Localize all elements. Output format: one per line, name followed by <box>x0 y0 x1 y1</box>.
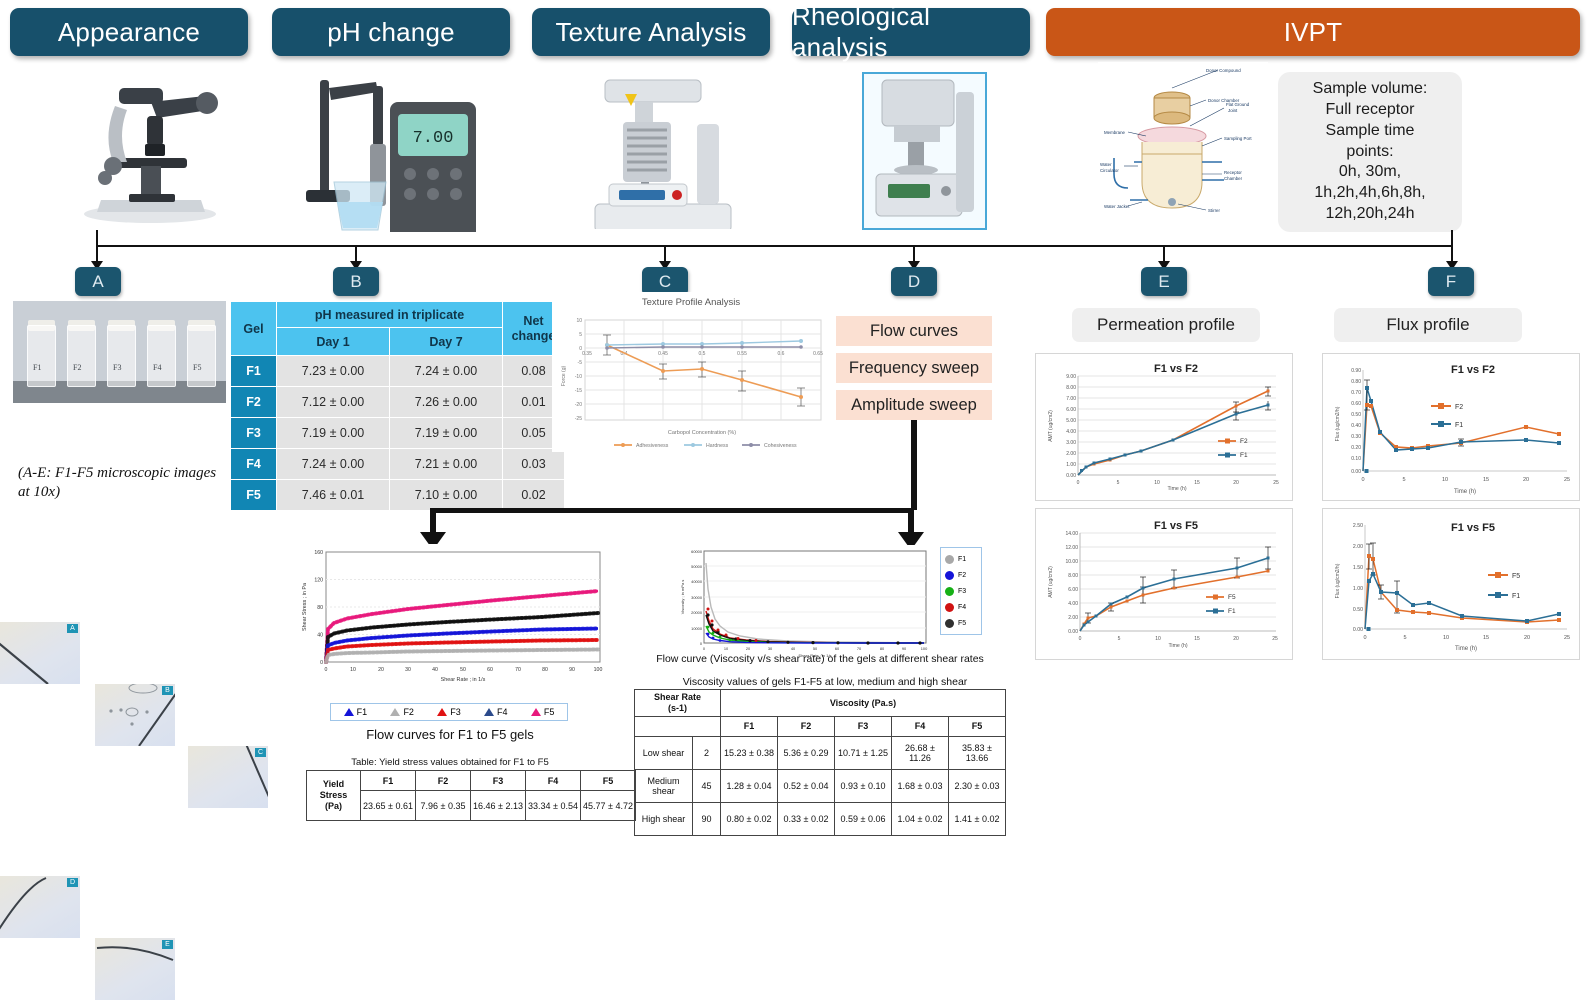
ivpt-sample-note: Sample volume: Full receptor Sample time… <box>1278 72 1462 232</box>
micro-panel-label: C <box>255 748 266 757</box>
badge-label: B <box>350 272 361 292</box>
svg-text:Water Jacket: Water Jacket <box>1104 204 1130 209</box>
viscosity-cell: 0.52 ± 0.04 <box>778 769 835 802</box>
svg-text:0.20: 0.20 <box>1351 445 1361 451</box>
triangle-icon <box>390 708 400 716</box>
svg-text:80: 80 <box>542 667 548 673</box>
svg-text:80: 80 <box>317 605 323 611</box>
svg-text:Circulator: Circulator <box>1100 168 1119 173</box>
viscosity-cell: 15.23 ± 0.38 <box>721 736 778 769</box>
svg-text:20: 20 <box>1524 635 1530 641</box>
note-line: Sample volume: <box>1313 79 1428 100</box>
viscosity-table-wrap: Shear Rate (s-1) Viscosity (Pa.s) F1 F2 … <box>634 689 1006 836</box>
table-row: Medium shear 45 1.28 ± 0.04 0.52 ± 0.04 … <box>635 769 1006 802</box>
svg-text:60000: 60000 <box>691 549 703 554</box>
svg-text:5.00: 5.00 <box>1066 418 1076 424</box>
svg-text:0.90: 0.90 <box>1351 368 1361 374</box>
rheo-branch-right <box>908 508 914 534</box>
svg-text:5: 5 <box>579 332 582 338</box>
permeation-f1-f2-card: F1 vs F2 9.008.007.006.00 5.004.003.002.… <box>1035 353 1293 501</box>
flux-f1-f5-card: F1 vs F5 2.502.001.50 1.000.500.00 0510 … <box>1322 508 1580 660</box>
svg-text:0.00: 0.00 <box>1353 627 1363 633</box>
ph-col-day1: Day 1 <box>277 328 390 356</box>
micro-panel-c: C <box>188 746 268 808</box>
table-row: F3 7.19 ± 0.00 7.19 ± 0.00 0.05 <box>231 418 565 449</box>
svg-text:Viscosity ; in mPa s: Viscosity ; in mPa s <box>680 580 685 615</box>
svg-text:0: 0 <box>1361 477 1364 483</box>
svg-text:0.50: 0.50 <box>1351 412 1361 418</box>
ph-cell-gel: F3 <box>231 418 277 449</box>
svg-text:5: 5 <box>1402 477 1405 483</box>
viscosity-cell: 0.59 ± 0.06 <box>835 802 892 835</box>
svg-text:0: 0 <box>1077 480 1080 486</box>
badge-label: D <box>908 272 920 292</box>
svg-text:-10: -10 <box>575 374 582 380</box>
badge-d: D <box>891 267 937 296</box>
svg-text:Flux (ug/cm2/h): Flux (ug/cm2/h) <box>1335 563 1341 598</box>
svg-text:1.00: 1.00 <box>1066 462 1076 468</box>
vial-label-f5: F5 <box>193 363 201 372</box>
legend-label: F5 <box>958 620 966 627</box>
svg-text:8.00: 8.00 <box>1068 573 1078 579</box>
flow-curves-chart: 16012080400 0102030 40506070 8090100 She… <box>292 544 607 694</box>
pill-label: Flux profile <box>1386 315 1469 335</box>
svg-text:0: 0 <box>1363 635 1366 641</box>
yield-table-caption: Table: Yield stress values obtained for … <box>300 757 600 768</box>
rheo-option-frequency-sweep[interactable]: Frequency sweep <box>836 353 992 383</box>
rheometer-photo <box>862 72 987 230</box>
svg-text:Chamber: Chamber <box>1224 176 1243 181</box>
connector-stem <box>96 230 98 246</box>
micro-panel-label: E <box>162 940 173 949</box>
ph-cell-day1: 7.23 ± 0.00 <box>277 356 390 387</box>
ph-col-group: pH measured in triplicate <box>277 302 503 328</box>
rheo-option-amplitude-sweep[interactable]: Amplitude sweep <box>836 390 992 420</box>
ph-cell-gel: F2 <box>231 387 277 418</box>
yield-col-f3: F3 <box>471 771 526 791</box>
svg-text:2.00: 2.00 <box>1066 451 1076 457</box>
svg-text:1.00: 1.00 <box>1353 586 1363 592</box>
viscosity-col-f5: F5 <box>949 716 1006 736</box>
svg-text:2.50: 2.50 <box>1353 523 1363 529</box>
svg-text:Carbopol Concentration (%): Carbopol Concentration (%) <box>668 430 736 436</box>
svg-text:-5: -5 <box>578 360 583 366</box>
ph-cell-day1: 7.19 ± 0.00 <box>277 418 390 449</box>
legend-item-f5: F5 <box>531 707 555 717</box>
svg-text:4.00: 4.00 <box>1068 601 1078 607</box>
svg-text:20: 20 <box>378 667 384 673</box>
chart-title: F1 vs F2 <box>1154 363 1198 375</box>
dot-icon <box>945 619 954 628</box>
badge-label: E <box>1158 272 1169 292</box>
rheo-label: Frequency sweep <box>849 359 979 378</box>
ph-cell-gel: F4 <box>231 449 277 480</box>
svg-text:14.00: 14.00 <box>1065 531 1078 537</box>
viscosity-row-label: Medium shear <box>635 769 693 802</box>
legend-item-f4: F4 <box>484 707 508 717</box>
svg-text:0.55: 0.55 <box>737 351 747 357</box>
svg-text:120: 120 <box>314 578 323 584</box>
legend-item-f3: F3 <box>437 707 461 717</box>
tab-label: IVPT <box>1284 17 1343 48</box>
ph-col-day7: Day 7 <box>390 328 503 356</box>
svg-text:0.00: 0.00 <box>1066 473 1076 479</box>
svg-text:Flux (ug/cm2/h): Flux (ug/cm2/h) <box>1335 406 1341 441</box>
table-row: F4 7.24 ± 0.00 7.21 ± 0.00 0.03 <box>231 449 565 480</box>
svg-text:40: 40 <box>432 667 438 673</box>
flow-curves-legend: F1 F2 F3 F4 F5 <box>330 703 568 721</box>
viscosity-legend: F1 F2 F3 F4 F5 <box>940 547 982 635</box>
svg-text:100: 100 <box>594 667 603 673</box>
micro-panel-label: D <box>67 878 78 887</box>
svg-text:40: 40 <box>317 633 323 639</box>
svg-text:20000: 20000 <box>691 610 703 615</box>
ph-cell-day7: 7.26 ± 0.00 <box>390 387 503 418</box>
svg-text:0.50: 0.50 <box>1353 607 1363 613</box>
svg-text:0.45: 0.45 <box>658 351 668 357</box>
badge-b: B <box>333 267 379 296</box>
legend-item-f1: F1 <box>945 555 977 564</box>
svg-text:160: 160 <box>314 550 323 556</box>
svg-text:AMT (ug/cm2): AMT (ug/cm2) <box>1048 410 1054 442</box>
svg-text:12.00: 12.00 <box>1065 545 1078 551</box>
triangle-icon <box>531 708 541 716</box>
svg-text:Joint: Joint <box>1228 108 1238 113</box>
legend-label-f1: F1 <box>1228 608 1236 615</box>
svg-text:5: 5 <box>1117 480 1120 486</box>
micro-panel-b: B <box>95 684 175 746</box>
viscosity-row-rate: 90 <box>693 802 721 835</box>
svg-text:50000: 50000 <box>691 564 703 569</box>
yield-row-label: Yield Stress (Pa) <box>307 771 361 821</box>
rheo-option-flow-curves[interactable]: Flow curves <box>836 316 992 346</box>
flux-f1-f2-card: F1 vs F2 0.900.800.700.60 0.500.400.300.… <box>1322 353 1580 501</box>
viscosity-table-caption: Viscosity values of gels F1-F5 at low, m… <box>640 676 1010 688</box>
viscosity-row-label: High shear <box>635 802 693 835</box>
viscosity-cell: 1.41 ± 0.02 <box>949 802 1006 835</box>
ph-cell-day7: 7.19 ± 0.00 <box>390 418 503 449</box>
badge-label: A <box>92 272 103 292</box>
tab-label: pH change <box>327 17 455 48</box>
badge-a: A <box>75 267 121 296</box>
dot-icon <box>945 587 954 596</box>
legend-label-f2: F2 <box>1240 438 1248 445</box>
svg-text:0.70: 0.70 <box>1351 390 1361 396</box>
svg-text:15: 15 <box>1483 635 1489 641</box>
viscosity-col-f2: F2 <box>778 716 835 736</box>
ph-table: Gel pH measured in triplicate Net change… <box>230 301 565 511</box>
viscosity-cell: 10.71 ± 1.25 <box>835 736 892 769</box>
svg-text:Time (h): Time (h) <box>1167 486 1186 492</box>
legend-label: F1 <box>958 556 966 563</box>
svg-text:AMT (ug/cm2): AMT (ug/cm2) <box>1048 566 1054 598</box>
ph-meter-icon: 7.00 <box>290 62 480 232</box>
svg-text:6.00: 6.00 <box>1068 587 1078 593</box>
chart-title: F1 vs F5 <box>1451 522 1495 534</box>
svg-text:0.00: 0.00 <box>1351 469 1361 475</box>
ph-cell-net: 0.03 <box>503 449 565 480</box>
table-row: High shear 90 0.80 ± 0.02 0.33 ± 0.02 0.… <box>635 802 1006 835</box>
yield-table-wrap: Yield Stress (Pa) F1 F2 F3 F4 F5 23.65 ±… <box>306 770 636 821</box>
viscosity-cell: 0.33 ± 0.02 <box>778 802 835 835</box>
viscosity-col-shear: Shear Rate (s-1) <box>635 690 721 717</box>
legend-item-f2: F2 <box>945 571 977 580</box>
badge-label: F <box>1446 272 1456 292</box>
svg-text:30000: 30000 <box>691 595 703 600</box>
svg-text:-25: -25 <box>575 416 582 422</box>
permeation-f1-f5-chart: F1 vs F5 14.0012.0010.008.00 6.004.002.0… <box>1036 509 1292 659</box>
tab-label: Rheological analysis <box>792 1 1030 63</box>
svg-text:0: 0 <box>1079 636 1082 642</box>
rheo-branch-bus <box>430 508 914 513</box>
table-row: F2 7.12 ± 0.00 7.26 ± 0.00 0.01 <box>231 387 565 418</box>
svg-text:25: 25 <box>1273 480 1279 486</box>
ph-cell-net: 0.02 <box>503 480 565 511</box>
tab-appearance[interactable]: Appearance <box>10 8 248 56</box>
svg-text:9.00: 9.00 <box>1066 374 1076 380</box>
svg-text:Time (h): Time (h) <box>1455 646 1477 652</box>
svg-text:70: 70 <box>515 667 521 673</box>
svg-text:20: 20 <box>1523 477 1529 483</box>
legend-label-f5: F5 <box>1512 573 1520 580</box>
viscosity-table: Shear Rate (s-1) Viscosity (Pa.s) F1 F2 … <box>634 689 1006 836</box>
badge-label: C <box>659 272 671 292</box>
flow-curves-caption: Flow curves for F1 to F5 gels <box>310 727 590 742</box>
connector-stem <box>1451 230 1453 246</box>
svg-text:0.40: 0.40 <box>1351 423 1361 429</box>
tab-texture-analysis[interactable]: Texture Analysis <box>532 8 770 56</box>
tab-label: Texture Analysis <box>555 17 746 48</box>
legend-item-f2: F2 <box>390 707 414 717</box>
svg-text:10: 10 <box>1154 480 1160 486</box>
viscosity-curve-chart: 600005000040000 3000020000100000 0102030… <box>668 545 973 660</box>
yield-col-f2: F2 <box>416 771 471 791</box>
svg-text:3.00: 3.00 <box>1066 440 1076 446</box>
svg-text:10: 10 <box>1155 636 1161 642</box>
ph-cell-day7: 7.21 ± 0.00 <box>390 449 503 480</box>
table-row: Low shear 2 15.23 ± 0.38 5.36 ± 0.29 10.… <box>635 736 1006 769</box>
svg-text:15: 15 <box>1194 636 1200 642</box>
tab-rheological-analysis[interactable]: Rheological analysis <box>792 8 1030 56</box>
legend-label: F5 <box>544 707 555 717</box>
micro-panel-e: E <box>95 938 175 1000</box>
svg-text:0.5: 0.5 <box>699 351 706 357</box>
viscosity-cell: 1.68 ± 0.03 <box>892 769 949 802</box>
tpa-title: Texture Profile Analysis <box>642 297 740 308</box>
triangle-icon <box>344 708 354 716</box>
svg-text:15: 15 <box>1194 480 1200 486</box>
svg-text:15: 15 <box>1483 477 1489 483</box>
dot-icon <box>945 571 954 580</box>
svg-text:0.10: 0.10 <box>1351 456 1361 462</box>
flux-f1-f5-chart: F1 vs F5 2.502.001.50 1.000.500.00 0510 … <box>1323 509 1579 659</box>
ph-cell-gel: F5 <box>231 480 277 511</box>
svg-text:10: 10 <box>350 667 356 673</box>
flux-f1-f2-chart: F1 vs F2 0.900.800.700.60 0.500.400.300.… <box>1323 354 1579 500</box>
note-line: 0h, 30m, <box>1313 162 1428 183</box>
badge-f: F <box>1428 267 1474 296</box>
rheo-label: Amplitude sweep <box>851 396 977 415</box>
permeation-profile-header: Permeation profile <box>1072 308 1260 342</box>
svg-text:Water: Water <box>1100 162 1112 167</box>
vial-label-f4: F4 <box>153 363 161 372</box>
svg-text:0: 0 <box>320 660 323 666</box>
legend-label: F4 <box>497 707 508 717</box>
legend-label: F4 <box>958 604 966 611</box>
ph-cell-gel: F1 <box>231 356 277 387</box>
viscosity-col-f1: F1 <box>721 716 778 736</box>
svg-text:30: 30 <box>405 667 411 673</box>
rheometer-icon <box>864 74 985 228</box>
viscosity-cell: 1.28 ± 0.04 <box>721 769 778 802</box>
microscopy-caption: (A-E: F1-F5 microscopic images at 10x) <box>18 464 228 502</box>
svg-text:Sampling Port: Sampling Port <box>1224 136 1252 141</box>
ph-cell-day1: 7.24 ± 0.00 <box>277 449 390 480</box>
triangle-icon <box>484 708 494 716</box>
svg-text:10: 10 <box>1442 477 1448 483</box>
flux-profile-header: Flux profile <box>1334 308 1522 342</box>
svg-text:0.00: 0.00 <box>1068 629 1078 635</box>
svg-text:0.80: 0.80 <box>1351 379 1361 385</box>
svg-text:Shear Rate ; in 1/s: Shear Rate ; in 1/s <box>441 677 486 683</box>
yield-col-f4: F4 <box>526 771 581 791</box>
micro-panel-label: B <box>162 686 173 695</box>
svg-text:Stirrer: Stirrer <box>1208 208 1220 213</box>
svg-text:0: 0 <box>325 667 328 673</box>
viscosity-row-rate: 2 <box>693 736 721 769</box>
chart-title: F1 vs F5 <box>1154 520 1198 532</box>
triangle-icon <box>437 708 447 716</box>
svg-text:25: 25 <box>1564 477 1570 483</box>
dot-icon <box>945 603 954 612</box>
svg-text:Donor Compound: Donor Compound <box>1206 68 1241 73</box>
legend-label: F2 <box>958 572 966 579</box>
yield-value-f4: 33.34 ± 0.54 <box>526 791 581 821</box>
micro-panel-a: A <box>0 622 80 684</box>
svg-text:1.50: 1.50 <box>1353 565 1363 571</box>
ph-table-wrap: Gel pH measured in triplicate Net change… <box>230 301 565 511</box>
svg-text:2.00: 2.00 <box>1068 615 1078 621</box>
chart-title: F1 vs F2 <box>1451 364 1495 376</box>
svg-text:2.00: 2.00 <box>1353 544 1363 550</box>
gel-vials-photo: F1 F2 F3 F4 F5 <box>13 301 226 403</box>
viscosity-row-rate: 45 <box>693 769 721 802</box>
viscosity-col-f3: F3 <box>835 716 892 736</box>
svg-text:10: 10 <box>1443 635 1449 641</box>
svg-text:0.60: 0.60 <box>1351 401 1361 407</box>
svg-text:25: 25 <box>1564 635 1570 641</box>
tab-label: Appearance <box>58 17 200 48</box>
svg-text:Membrane: Membrane <box>1104 130 1126 135</box>
yield-value-f5: 45.77 ± 4.72 <box>581 791 636 821</box>
dot-icon <box>945 555 954 564</box>
micro-panel-d: D <box>0 876 80 938</box>
svg-text:25: 25 <box>1272 636 1278 642</box>
svg-text:90: 90 <box>569 667 575 673</box>
note-line: 12h,20h,24h <box>1313 204 1428 225</box>
yield-stress-table: Yield Stress (Pa) F1 F2 F3 F4 F5 23.65 ±… <box>306 770 636 821</box>
ph-cell-day1: 7.46 ± 0.01 <box>277 480 390 511</box>
svg-text:4.00: 4.00 <box>1066 429 1076 435</box>
vial-label-f1: F1 <box>33 363 41 372</box>
viscosity-cell: 2.30 ± 0.03 <box>949 769 1006 802</box>
table-row: F5 7.46 ± 0.01 7.10 ± 0.00 0.02 <box>231 480 565 511</box>
svg-text:20: 20 <box>1233 480 1239 486</box>
viscosity-cell: 1.04 ± 0.02 <box>892 802 949 835</box>
svg-text:Adhesiveness: Adhesiveness <box>636 443 669 449</box>
permeation-f1-f5-card: F1 vs F5 14.0012.0010.008.00 6.004.002.0… <box>1035 508 1293 660</box>
note-line: Sample time <box>1313 121 1428 142</box>
viscosity-cell: 26.68 ± 11.26 <box>892 736 949 769</box>
svg-text:Hardness: Hardness <box>706 443 729 449</box>
svg-text:7.00: 7.00 <box>1066 396 1076 402</box>
legend-label: F3 <box>450 707 461 717</box>
svg-text:10.00: 10.00 <box>1065 559 1078 565</box>
ph-cell-day1: 7.12 ± 0.00 <box>277 387 390 418</box>
pill-label: Permeation profile <box>1097 315 1235 335</box>
svg-text:5: 5 <box>1118 636 1121 642</box>
microscope-icon <box>55 66 235 226</box>
viscosity-col-f4: F4 <box>892 716 949 736</box>
svg-text:-15: -15 <box>575 388 582 394</box>
svg-text:Time (h): Time (h) <box>1454 489 1476 495</box>
svg-text:0.30: 0.30 <box>1351 434 1361 440</box>
svg-text:Force (g): Force (g) <box>561 366 567 387</box>
table-row: F1 7.23 ± 0.00 7.24 ± 0.00 0.08 <box>231 356 565 387</box>
connector-bus <box>96 245 1452 247</box>
viscosity-cell: 0.80 ± 0.02 <box>721 802 778 835</box>
svg-text:Cohesiveness: Cohesiveness <box>764 443 797 449</box>
svg-text:40000: 40000 <box>691 579 703 584</box>
note-line: Full receptor <box>1313 100 1428 121</box>
legend-label: F2 <box>403 707 414 717</box>
ph-col-gel: Gel <box>231 302 277 356</box>
viscosity-col-group: Viscosity (Pa.s) <box>721 690 1006 717</box>
svg-text:Time (h): Time (h) <box>1168 643 1187 649</box>
viscosity-cell: 35.83 ± 13.66 <box>949 736 1006 769</box>
viscosity-row-label: Low shear <box>635 736 693 769</box>
viscosity-cell: 0.93 ± 0.10 <box>835 769 892 802</box>
micro-panel-label: A <box>67 624 78 633</box>
tab-ivpt[interactable]: IVPT <box>1046 8 1580 56</box>
svg-text:100: 100 <box>921 646 928 651</box>
svg-text:0.35: 0.35 <box>582 351 592 357</box>
svg-text:Receptor: Receptor <box>1224 170 1242 175</box>
svg-text:10000: 10000 <box>691 626 703 631</box>
svg-text:Flat Ground: Flat Ground <box>1226 102 1250 107</box>
legend-item-f1: F1 <box>344 707 368 717</box>
tpa-chart: Texture Profile Analysis 1050 -5-10-15 -… <box>552 292 830 452</box>
yield-col-f5: F5 <box>581 771 636 791</box>
svg-text:0.65: 0.65 <box>813 351 823 357</box>
note-line: points: <box>1313 142 1428 163</box>
viscosity-cell: 5.36 ± 0.29 <box>778 736 835 769</box>
rheo-branch-left <box>430 508 436 534</box>
svg-text:60: 60 <box>487 667 493 673</box>
svg-text:10: 10 <box>576 318 582 324</box>
legend-label: F3 <box>958 588 966 595</box>
badge-e: E <box>1141 267 1187 296</box>
yield-value-f2: 7.96 ± 0.35 <box>416 791 471 821</box>
texture-analyser-icon <box>565 64 755 229</box>
svg-text:6.00: 6.00 <box>1066 407 1076 413</box>
svg-text:0.6: 0.6 <box>778 351 785 357</box>
legend-label-f1: F1 <box>1240 452 1248 459</box>
legend-label-f1: F1 <box>1455 422 1463 429</box>
legend-label-f2: F2 <box>1455 404 1463 411</box>
legend-label-f5: F5 <box>1228 594 1236 601</box>
tab-ph-change[interactable]: pH change <box>272 8 510 56</box>
